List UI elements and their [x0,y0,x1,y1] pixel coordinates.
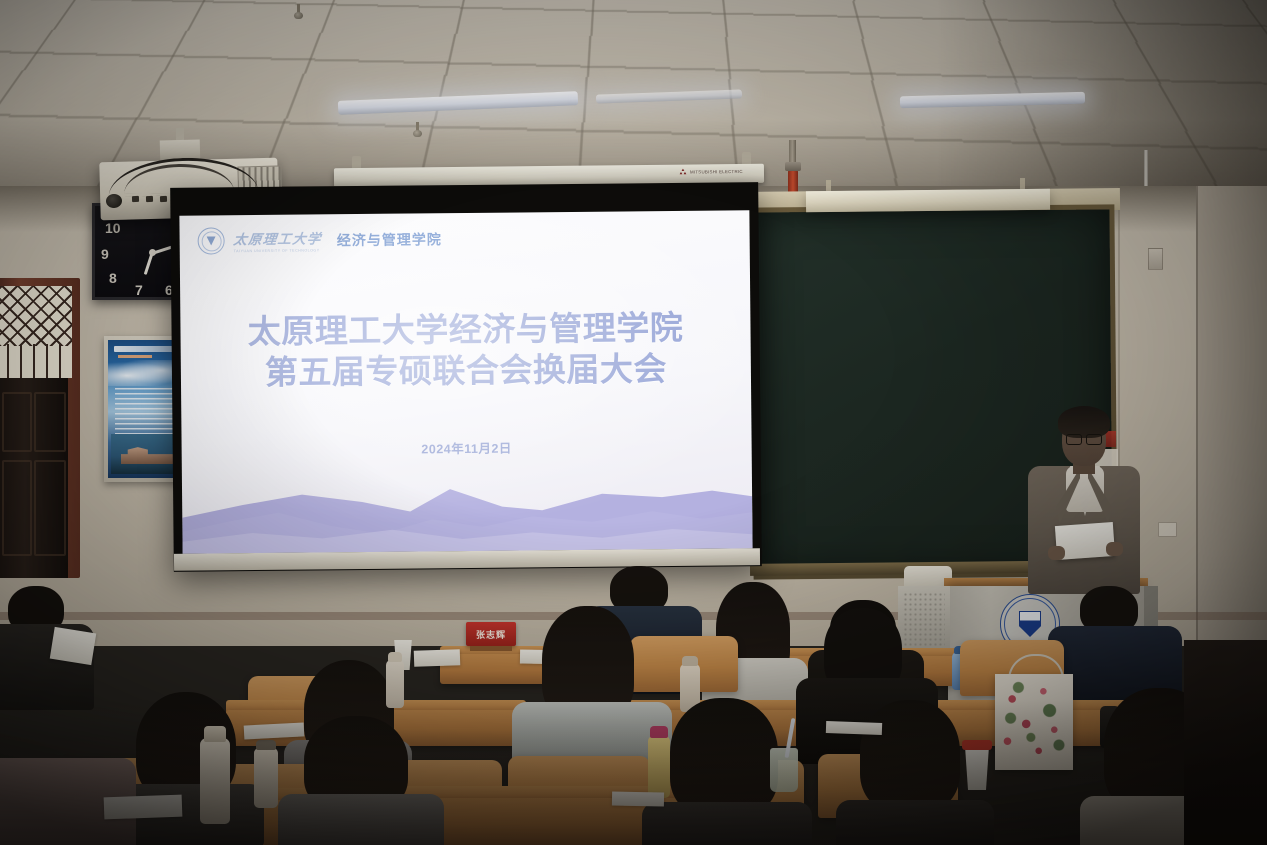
attendee-torso [836,800,994,845]
door-lattice-window [0,286,72,378]
mitsubishi-logo-icon: MITSUBISHI ELECTRIC [679,168,743,176]
university-name-cn: 太原理工大学 [233,227,323,248]
document [414,649,461,667]
poster-campus-photo [111,434,181,474]
presenter-at-podium [1014,404,1154,594]
thermos-bottle [254,748,278,808]
fire-valve-icon [785,160,801,194]
projector-port [160,196,167,202]
glasses-icon [1066,434,1102,443]
placard-name: 张志辉 [476,628,506,641]
wall-right-panel [1196,186,1267,646]
power-outlet [1158,522,1177,537]
thermos-bottle [648,736,670,798]
attendee-hair [670,698,778,816]
door-panel [2,392,32,452]
attendee [0,738,128,845]
slide-title-line-1: 太原理工大学经济与管理学院 [180,306,750,352]
bottle-cap [388,652,402,662]
bottle-cap [204,726,226,742]
foreground-shadow-right [1184,640,1267,845]
thermos-bottle [200,738,230,824]
clock-numeral: 8 [109,270,117,286]
bottle-cap [650,726,668,738]
bottle-cap [682,656,698,666]
clock-numeral: 10 [105,220,121,236]
document [826,721,882,735]
attendee [518,606,662,766]
door-panel [34,392,66,452]
slide-title-line-2: 第五届专硕联合会换届大会 [181,347,751,393]
attendee [0,586,108,706]
blackboard-lamp [806,189,1050,213]
slide-title: 太原理工大学经济与管理学院 第五届专硕联合会换届大会 [180,306,751,393]
university-seal-icon [198,227,225,254]
sprinkler-icon [413,122,422,138]
door-panel [34,460,66,556]
door-panel [2,460,32,556]
attendee-hair [860,700,960,812]
attendee-torso [642,802,812,845]
university-wordmark: 太原理工大学 TAIYUAN UNIVERSITY OF TECHNOLOGY [234,227,322,253]
name-placard: 张志辉 [466,622,516,646]
cup-lid [962,740,992,750]
thermos-bottle [386,660,404,708]
projected-slide: 太原理工大学 TAIYUAN UNIVERSITY OF TECHNOLOGY … [179,210,752,553]
presenter-hand-left [1048,546,1065,560]
wall-junction-box [1148,248,1163,270]
projector-port [132,196,139,202]
slide-header: 太原理工大学 TAIYUAN UNIVERSITY OF TECHNOLOGY … [198,225,442,254]
classroom-photo-scene: MITSUBISHI ELECTRIC [0,0,1267,845]
placard-stand [470,646,512,651]
university-name-en: TAIYUAN UNIVERSITY OF TECHNOLOGY [234,248,322,253]
sprinkler-icon [294,4,303,20]
wall-seam [1196,186,1198,646]
presenter-hand-right [1106,542,1123,556]
poster-gate-illustration [121,446,177,464]
slide-mountain-decoration [182,456,753,553]
attendee [288,716,438,845]
clock-hour-hand [144,253,154,275]
document [612,792,664,807]
floral-gift-bag [995,674,1073,770]
clock-numeral: 9 [101,246,109,262]
document [50,627,96,665]
crest-shield [1019,611,1041,637]
seal-triangle [207,236,216,245]
bottle-cap [256,740,276,750]
clock-center-pin [149,249,156,256]
attendee [122,692,262,842]
slide-date: 2024年11月2日 [182,435,752,459]
poster-text-lines [115,388,178,440]
gift-bag-pattern [995,674,1073,770]
projector-port [146,196,153,202]
screen-brand-label: MITSUBISHI ELECTRIC [690,169,743,175]
document [104,795,183,820]
college-name-label: 经济与管理学院 [337,229,442,250]
poster-subtitle-bar [118,355,152,358]
attendee-torso [278,794,444,845]
poster-title-bar [114,346,180,352]
clock-numeral: 7 [135,282,143,298]
